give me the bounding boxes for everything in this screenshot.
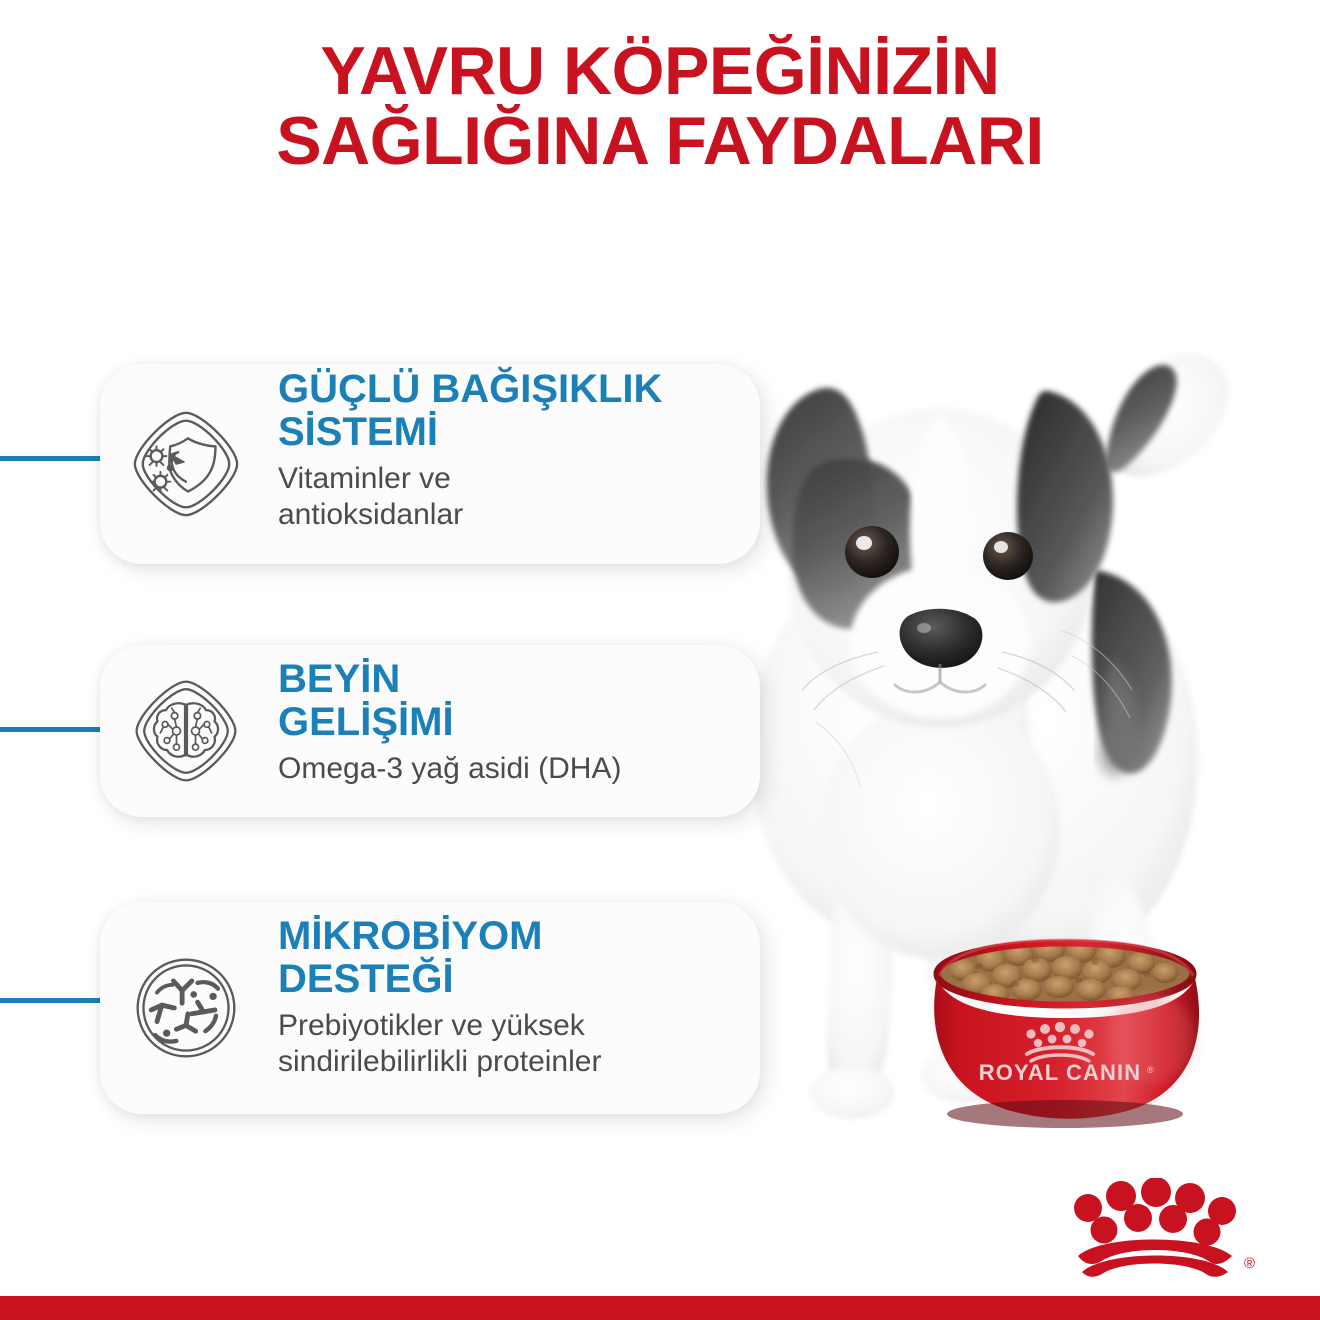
sub-line-1: Prebiyotikler ve yüksek: [278, 1008, 601, 1045]
benefit-text-microbiome: MİKROBİYOM DESTEĞİ Prebiyotikler ve yüks…: [278, 915, 601, 1081]
royal-canin-crown-logo: ®: [1020, 1178, 1270, 1288]
logo-registered-mark: ®: [1244, 1255, 1255, 1272]
sub-line-1: Vitaminler ve: [278, 461, 662, 498]
shield-immunity-icon: [122, 400, 250, 528]
benefit-heading-microbiome: MİKROBİYOM DESTEĞİ: [278, 915, 601, 1001]
heading-line-1: MİKROBİYOM: [278, 915, 601, 958]
benefit-sub-microbiome: Prebiyotikler ve yüksek sindirilebilirli…: [278, 1008, 601, 1081]
sub-line-2: sindirilebilirlikli proteinler: [278, 1044, 601, 1081]
heading-line-1: GÜÇLÜ BAĞIŞIKLIK: [278, 368, 662, 411]
benefit-heading-brain: BEYİN GELİŞİMİ: [278, 658, 621, 744]
dog-food-bowl: ROYAL CANIN ®: [855, 930, 1275, 1140]
bowl-brand-text: ROYAL CANIN: [979, 1060, 1141, 1085]
connector-line-1: [0, 456, 112, 461]
heading-line-2: DESTEĞİ: [278, 958, 601, 1001]
page-title-line-2: SAĞLIĞINA FAYDALARI: [0, 106, 1320, 176]
heading-line-2: GELİŞİMİ: [278, 701, 621, 744]
brain-icon: [122, 667, 250, 795]
poster-canvas: YAVRU KÖPEĞİNİZİN SAĞLIĞINA FAYDALARI: [0, 0, 1320, 1320]
benefit-text-brain: BEYİN GELİŞİMİ Omega-3 yağ asidi (DHA): [278, 658, 621, 787]
sub-line-1: Omega-3 yağ asidi (DHA): [278, 751, 621, 788]
benefit-sub-immunity: Vitaminler ve antioksidanlar: [278, 461, 662, 534]
bottom-red-bar: [0, 1296, 1320, 1320]
benefit-sub-brain: Omega-3 yağ asidi (DHA): [278, 751, 621, 788]
connector-line-3: [0, 998, 112, 1003]
page-title: YAVRU KÖPEĞİNİZİN SAĞLIĞINA FAYDALARI: [0, 36, 1320, 176]
heading-line-1: BEYİN: [278, 658, 621, 701]
page-title-line-1: YAVRU KÖPEĞİNİZİN: [0, 36, 1320, 106]
microbiome-petri-dish-icon: [122, 944, 250, 1072]
heading-line-2: SİSTEMİ: [278, 411, 662, 454]
benefit-text-immunity: GÜÇLÜ BAĞIŞIKLIK SİSTEMİ Vitaminler ve a…: [278, 368, 662, 534]
connector-line-2: [0, 727, 112, 732]
bowl-registered-mark: ®: [1147, 1065, 1154, 1075]
sub-line-2: antioksidanlar: [278, 497, 662, 534]
benefit-heading-immunity: GÜÇLÜ BAĞIŞIKLIK SİSTEMİ: [278, 368, 662, 454]
